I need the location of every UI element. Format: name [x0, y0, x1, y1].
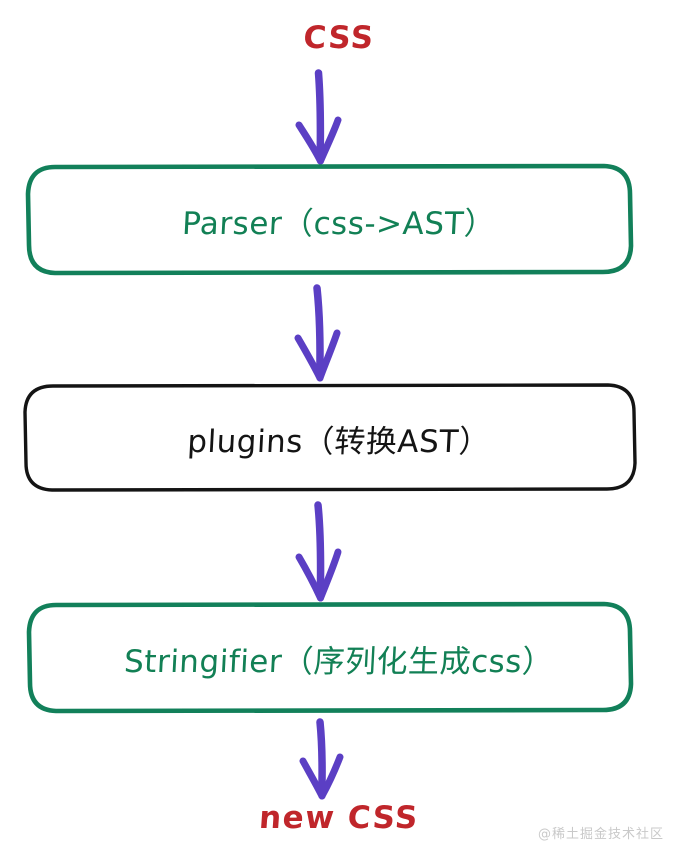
- node-stringifier-label: Stringifier（序列化生成css）: [0, 636, 678, 681]
- arrow-stringifier-to-newcss: [303, 722, 340, 796]
- node-plugins-label: plugins（转换AST）: [0, 416, 678, 461]
- arrow-css-to-parser: [299, 73, 338, 161]
- arrow-parser-to-plugins: [298, 288, 337, 378]
- arrow-plugins-to-stringifier: [299, 505, 338, 598]
- start-label-css: CSS: [0, 20, 678, 56]
- watermark: @稀土掘金技术社区: [538, 823, 664, 842]
- node-parser-label: Parser（css->AST）: [0, 198, 678, 243]
